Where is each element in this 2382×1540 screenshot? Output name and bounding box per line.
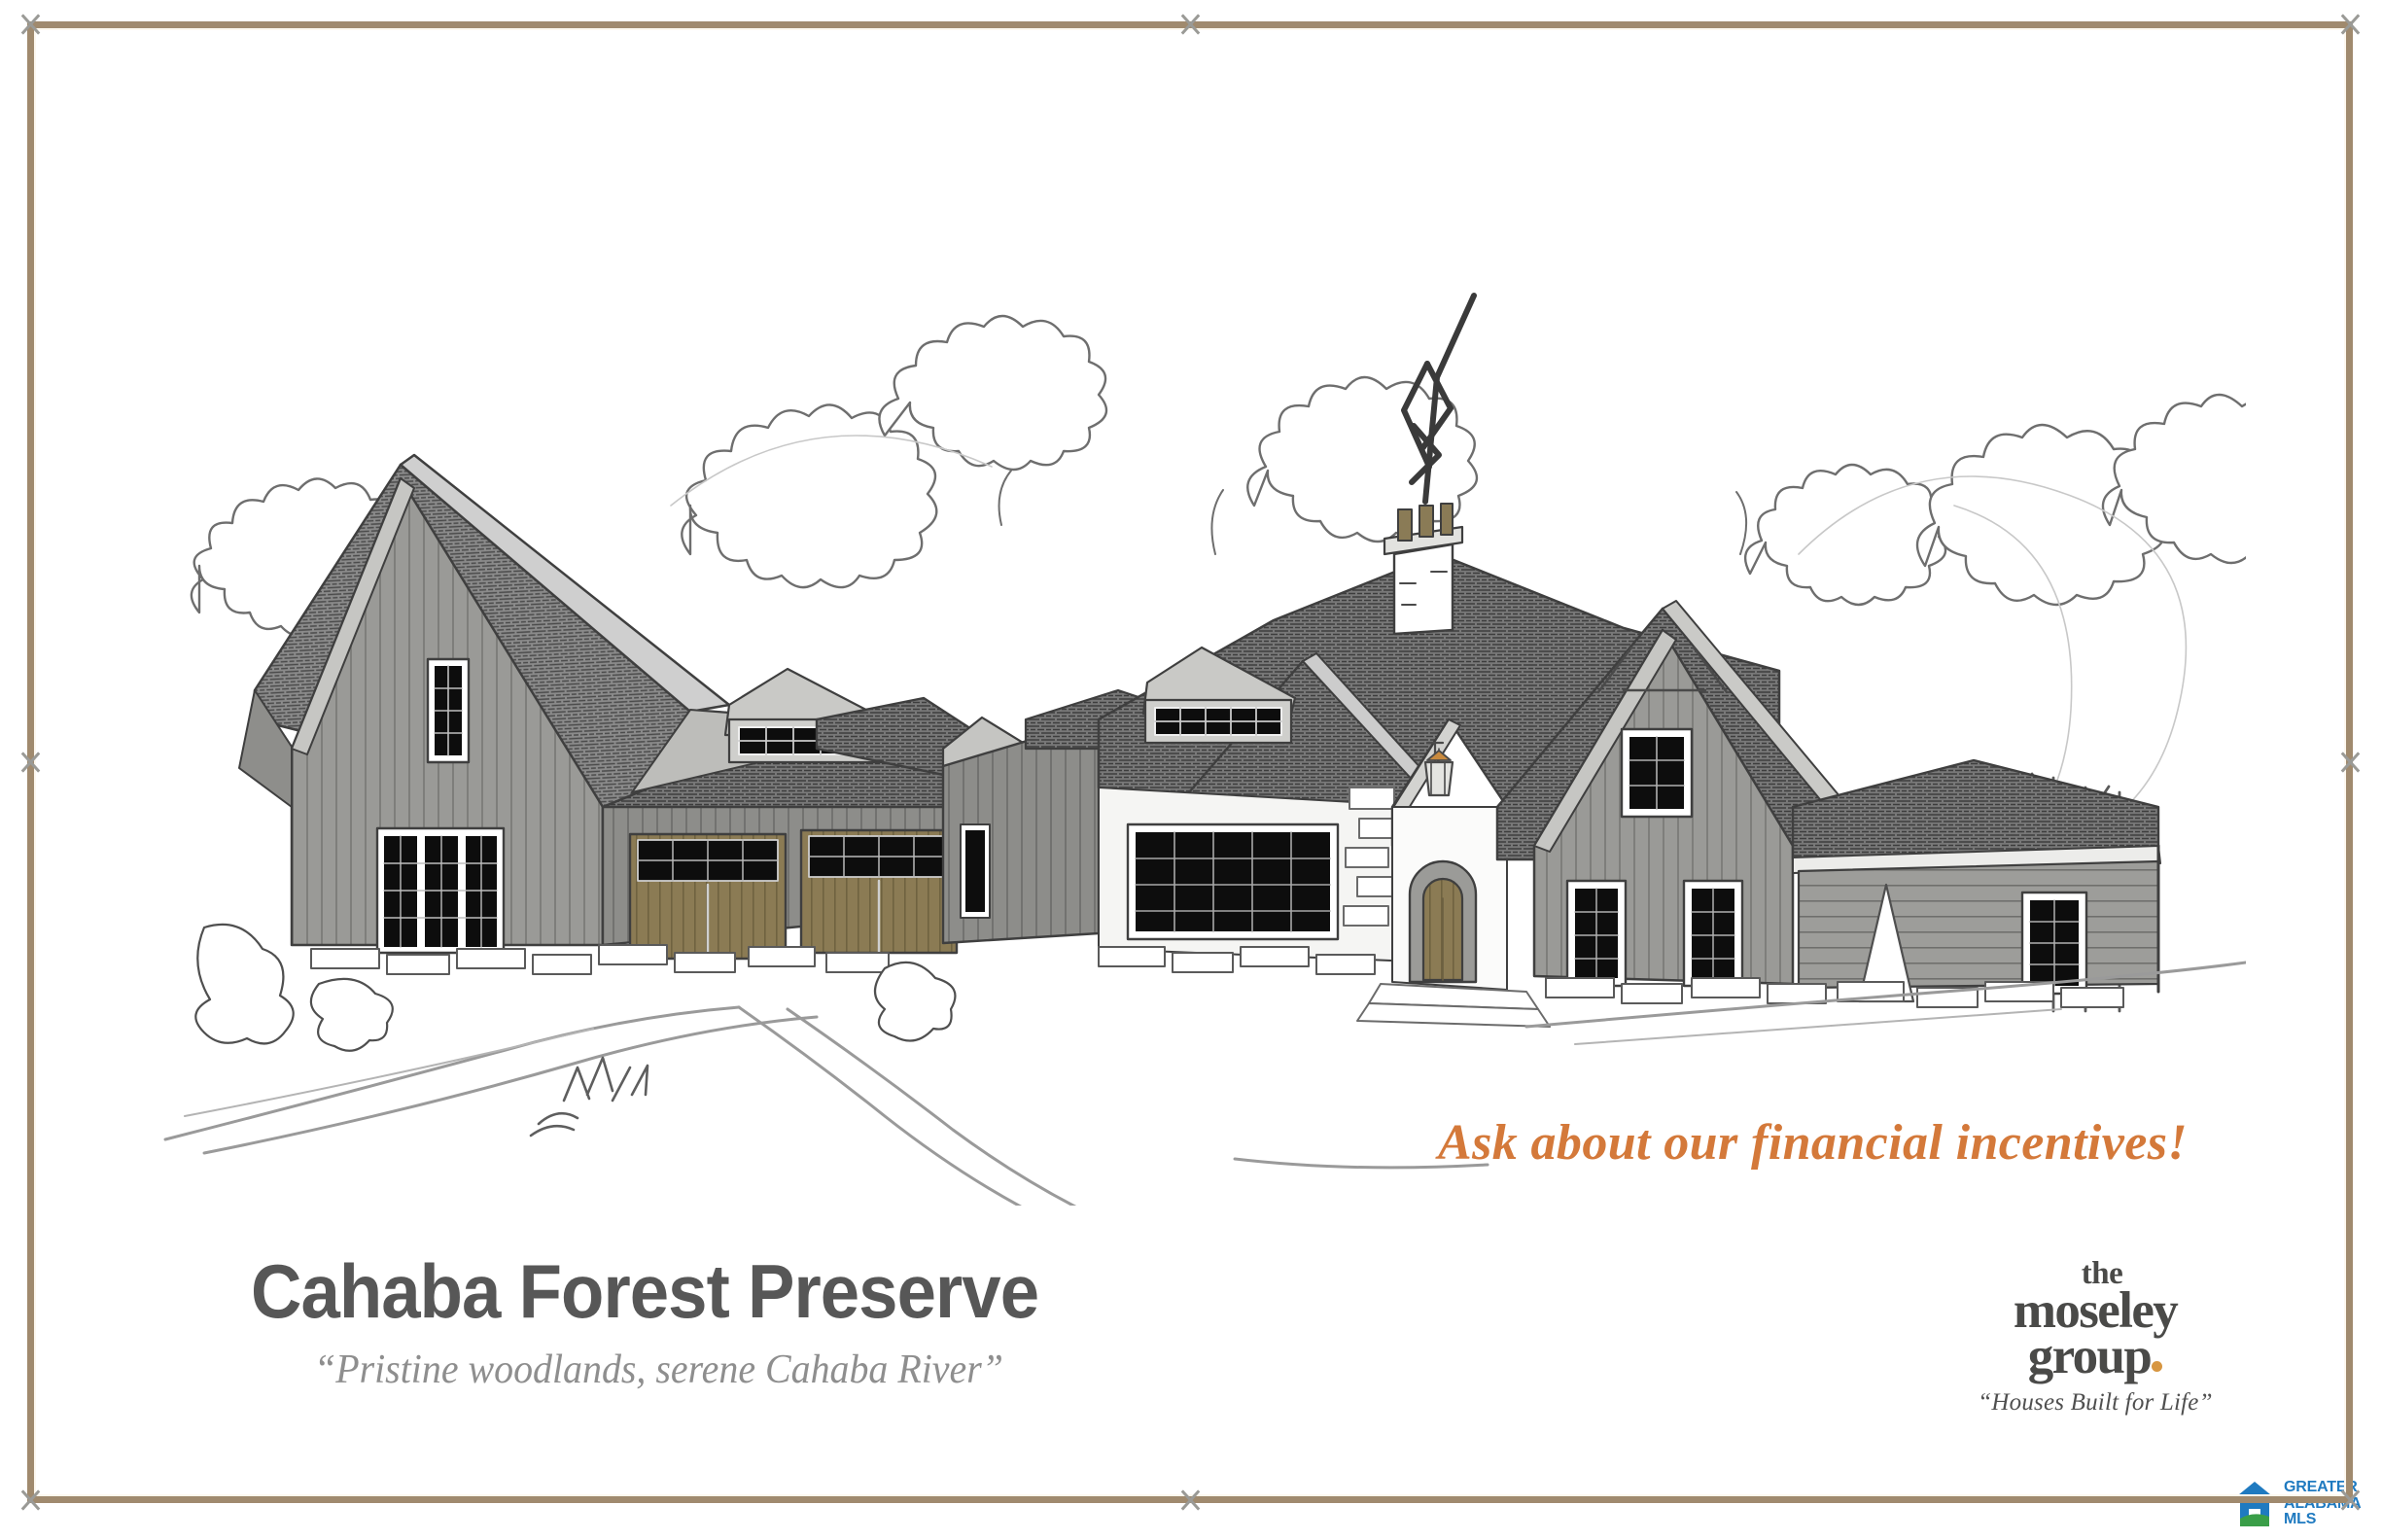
frame-x-icon-left-center	[16, 748, 45, 777]
frame-x-icon-right-center	[2335, 748, 2364, 777]
mls-label: GREATER ALABAMA MLS	[2284, 1480, 2361, 1528]
mls-line-2: ALABAMA	[2284, 1496, 2361, 1513]
logo-tagline: “Houses Built for Life”	[1920, 1389, 2270, 1417]
frame-x-icon-bottom-center	[1175, 1486, 1205, 1515]
moseley-group-logo: the moseley group “Houses Built for Life…	[1920, 1259, 2270, 1417]
mls-line-1: GREATER	[2284, 1480, 2361, 1496]
frame-corner-x-icon-top-right	[2335, 10, 2364, 39]
house-rendering	[146, 262, 2246, 1206]
page-title: Cahaba Forest Preserve	[251, 1247, 1038, 1336]
logo-line-group: group	[2028, 1334, 2152, 1381]
greater-alabama-mls-badge: GREATER ALABAMA MLS	[2232, 1480, 2361, 1528]
mls-line-3: MLS	[2284, 1512, 2361, 1528]
frame-corner-x-icon-bottom-left	[16, 1486, 45, 1515]
house-icon	[2232, 1480, 2277, 1528]
logo-dot-icon	[2152, 1361, 2162, 1372]
frame-corner-x-icon-top-left	[16, 10, 45, 39]
frame-x-icon-top-center	[1175, 10, 1205, 39]
page-subtitle: “Pristine woodlands, serene Cahaba River…	[314, 1347, 1003, 1393]
listing-photo-page: Ask about our financial incentives! Caha…	[0, 0, 2382, 1540]
financial-incentives-tagline: Ask about our financial incentives!	[1293, 1114, 2188, 1172]
